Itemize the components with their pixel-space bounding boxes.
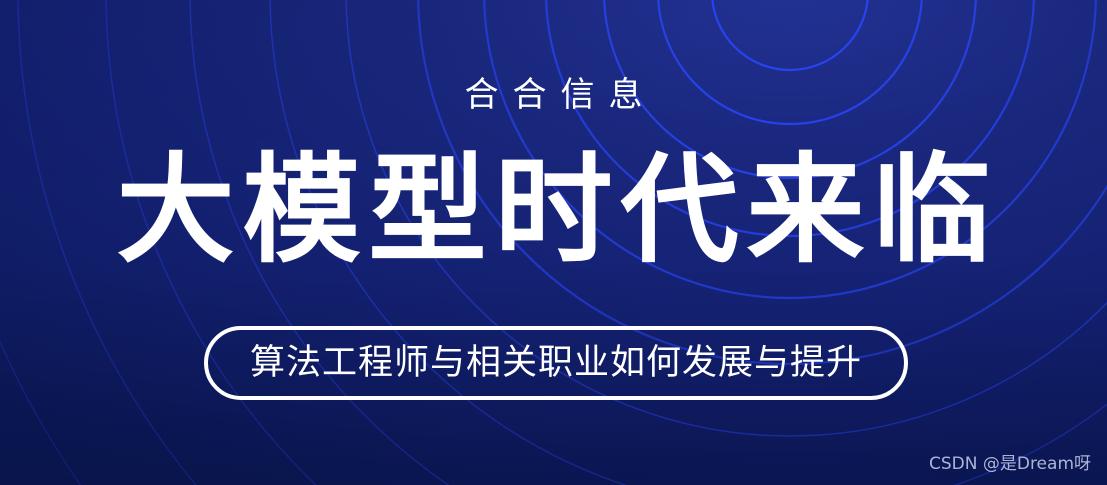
poster-banner: 合合信息 大模型时代来临 算法工程师与相关职业如何发展与提升 CSDN @是Dr… bbox=[0, 0, 1107, 485]
subtitle-pill: 算法工程师与相关职业如何发展与提升 bbox=[204, 326, 908, 400]
page-title: 大模型时代来临 bbox=[0, 148, 1107, 273]
subtitle-text: 算法工程师与相关职业如何发展与提升 bbox=[250, 346, 862, 381]
watermark-credit: CSDN @是Dream呀 bbox=[929, 456, 1091, 473]
content-layer: 合合信息 大模型时代来临 算法工程师与相关职业如何发展与提升 CSDN @是Dr… bbox=[0, 0, 1107, 485]
eyebrow-text: 合合信息 bbox=[0, 78, 1107, 112]
